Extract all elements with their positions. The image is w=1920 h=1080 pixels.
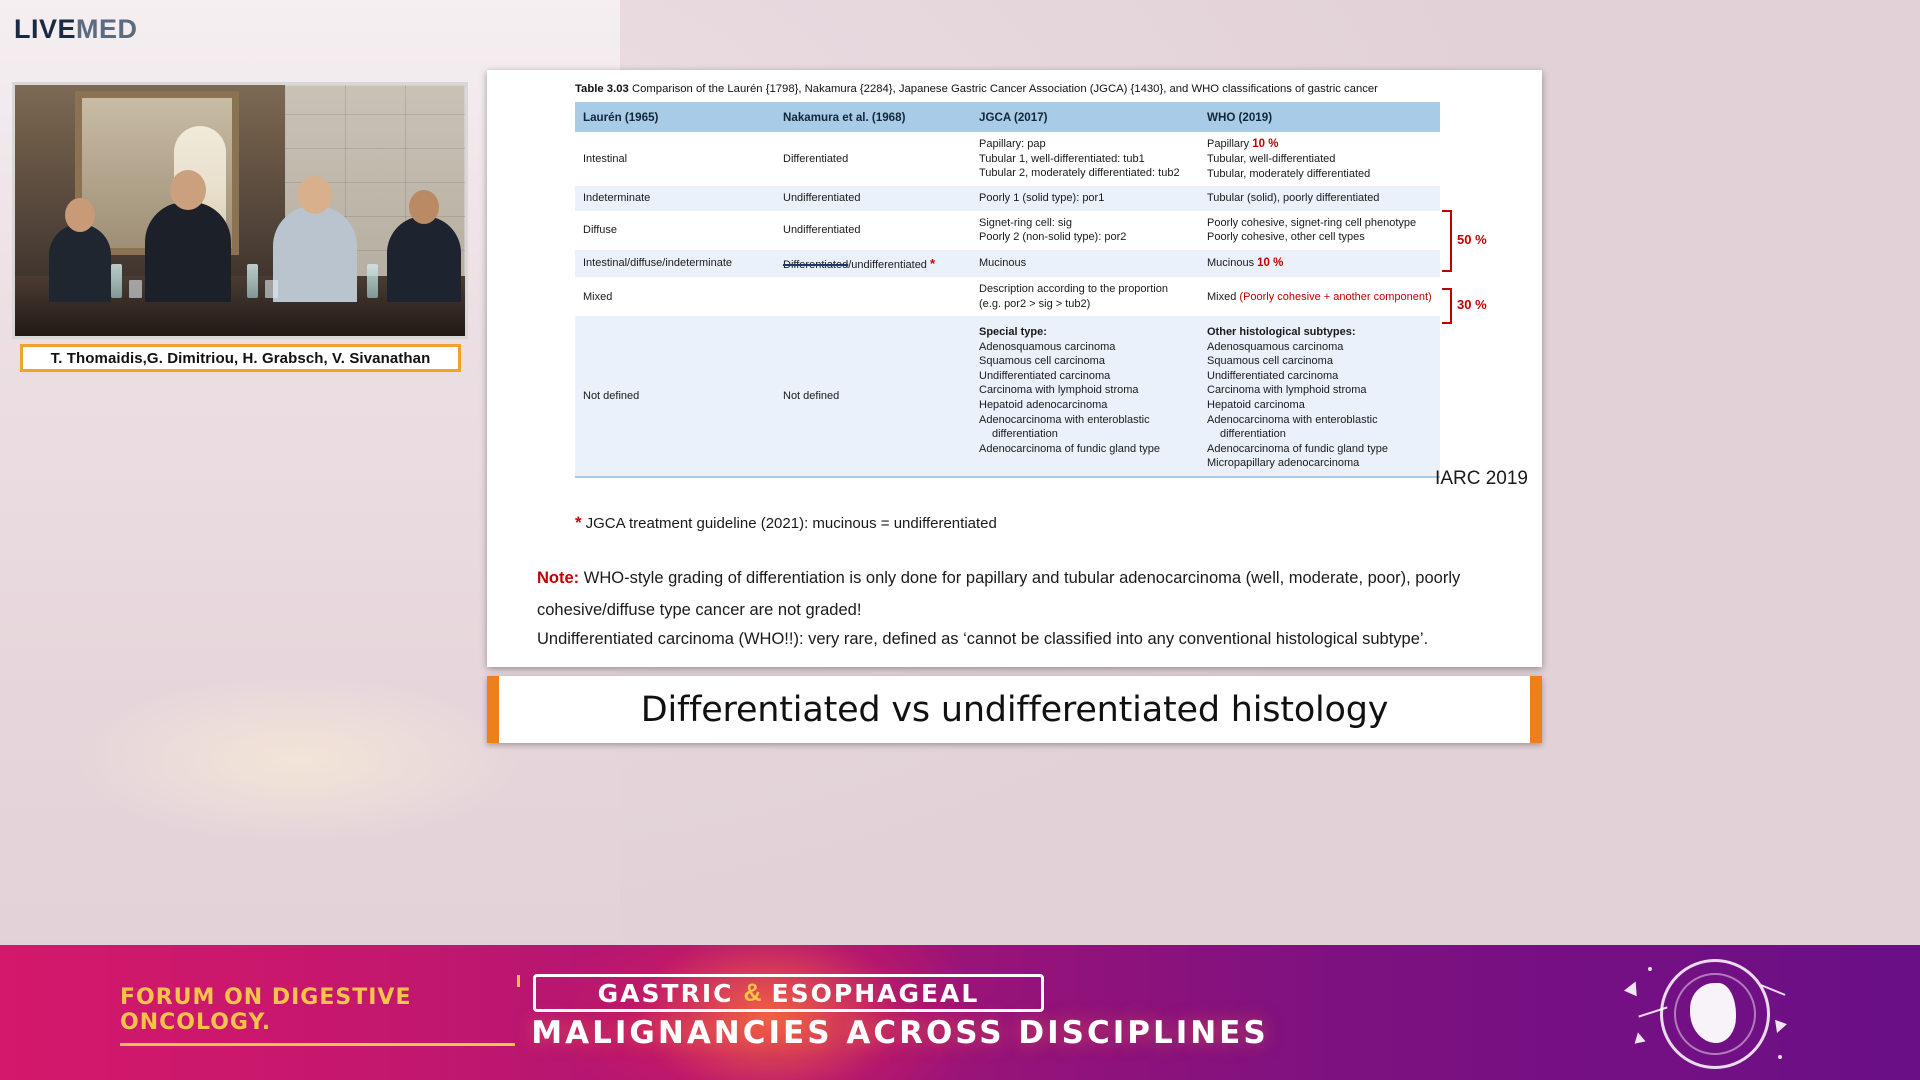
table-caption: Table 3.03 Comparison of the Laurén {179… [575, 82, 1440, 96]
who-mixed-note: (Poorly cohesive + another component) [1239, 291, 1431, 303]
note-body: WHO-style grading of differentiation is … [537, 569, 1460, 619]
cell-lauren: Intestinal [575, 132, 775, 186]
forum-tick [517, 975, 520, 987]
who-line: differentiation [1207, 427, 1432, 442]
table-row: Indeterminate Undifferentiated Poorly 1 … [575, 186, 1440, 211]
cell-jgca: Signet-ring cell: sig Poorly 2 (non-soli… [971, 211, 1199, 250]
gastric-label: GASTRIC [598, 979, 734, 1008]
jgca-line: Adenocarcinoma of fundic gland type [979, 443, 1160, 455]
cell-jgca: Papillary: pap Tubular 1, well-different… [971, 132, 1199, 186]
table-caption-text: Comparison of the Laurén {1798}, Nakamur… [632, 83, 1378, 95]
ampersand-label: & [743, 979, 761, 1008]
asterisk-marker: * [930, 256, 935, 271]
table-row: Intestinal Differentiated Papillary: pap… [575, 132, 1440, 186]
who-percent-papillary: 10 % [1252, 138, 1278, 150]
panelist-4-head [409, 190, 439, 224]
who-line: Mucinous [1207, 257, 1254, 269]
who-line: Adenocarcinoma of fundic gland type [1207, 443, 1388, 455]
nakamura-rest: /undifferentiated [848, 259, 927, 271]
who-line: Tubular, moderately differentiated [1207, 168, 1370, 180]
col-header-who: WHO (2019) [1199, 102, 1440, 132]
col-header-lauren: Laurén (1965) [575, 102, 775, 132]
jgca-line: Description according to the proportion [979, 283, 1168, 295]
water-bottle-2 [247, 264, 258, 298]
jgca-special-title: Special type: [979, 326, 1047, 338]
cell-nakamura: Not defined [775, 316, 971, 475]
esophageal-label: ESOPHAGEAL [772, 979, 980, 1008]
footnote-asterisk: * [575, 513, 582, 532]
panelist-1 [49, 224, 111, 302]
banner-subtitle: MALIGNANCIES ACROSS DISCIPLINES [490, 1015, 1310, 1051]
slide-note-secondary: Undifferentiated carcinoma (WHO!!): very… [537, 630, 1522, 649]
stomach-icon [1690, 983, 1736, 1043]
who-line: Adenosquamous carcinoma [1207, 341, 1343, 353]
who-line: Poorly cohesive, signet-ring cell phenot… [1207, 217, 1416, 229]
who-line: Micropapillary adenocarcinoma [1207, 457, 1359, 469]
table-footnote: *JGCA treatment guideline (2021): mucino… [575, 513, 997, 533]
forum-label: FORUM ON DIGESTIVE ONCOLOGY. [120, 985, 520, 1035]
cell-jgca: Mucinous [971, 250, 1199, 278]
emblem-spark [1624, 979, 1642, 997]
table-row: Diffuse Undifferentiated Signet-ring cel… [575, 211, 1440, 250]
cell-lauren: Not defined [575, 316, 775, 475]
cell-lauren: Indeterminate [575, 186, 775, 211]
cell-lauren: Diffuse [575, 211, 775, 250]
table-header-row: Laurén (1965) Nakamura et al. (1968) JGC… [575, 102, 1440, 132]
jgca-line: Adenosquamous carcinoma [979, 341, 1115, 353]
table-row: Intestinal/diffuse/indeterminate Differe… [575, 250, 1440, 278]
who-line: Carcinoma with lymphoid stroma [1207, 384, 1367, 396]
cell-nakamura [775, 277, 971, 316]
panelist-4 [387, 216, 461, 302]
emblem-dot [1778, 1055, 1782, 1059]
who-line: Adenocarcinoma with enteroblastic [1207, 414, 1378, 426]
emblem-spark [1771, 1020, 1787, 1035]
forum-underline [120, 1043, 515, 1046]
emblem-dot [1648, 967, 1652, 971]
slide-title-bar: Differentiated vs undifferentiated histo… [487, 676, 1542, 743]
jgca-line: Squamous cell carcinoma [979, 355, 1105, 367]
who-other-title: Other histological subtypes: [1207, 326, 1356, 338]
table-row: Mixed Description according to the propo… [575, 277, 1440, 316]
speaker-video-panel[interactable] [12, 82, 468, 339]
cell-who: Papillary 10 % Tubular, well-differentia… [1199, 132, 1440, 186]
struck-differentiated: Differentiated [783, 259, 848, 271]
who-line: Undifferentiated carcinoma [1207, 370, 1338, 382]
brace-label: 30 % [1457, 297, 1487, 312]
livemed-logo: LIVEMED [14, 14, 138, 45]
emblem-spark [1632, 1031, 1645, 1044]
jgca-line: Tubular 2, moderately differentiated: tu… [979, 167, 1180, 179]
who-line: Poorly cohesive, other cell types [1207, 231, 1365, 243]
forum-label-block: FORUM ON DIGESTIVE ONCOLOGY. [120, 985, 520, 1046]
stomach-emblem-icon [1660, 959, 1770, 1069]
cell-who: Mixed (Poorly cohesive + another compone… [1199, 277, 1440, 316]
slide-note-primary: Note: WHO-style grading of differentiati… [537, 562, 1512, 626]
who-line: Squamous cell carcinoma [1207, 355, 1333, 367]
footnote-text: JGCA treatment guideline (2021): mucinou… [586, 515, 997, 532]
brace-label: 50 % [1457, 232, 1487, 247]
who-line: Mixed [1207, 291, 1236, 303]
logo-med: MED [76, 14, 138, 44]
jgca-line: (e.g. por2 > sig > tub2) [979, 298, 1090, 310]
cell-lauren: Mixed [575, 277, 775, 316]
cell-nakamura: Differentiated [775, 132, 971, 186]
brace-bar [1442, 210, 1452, 272]
who-line: Hepatoid carcinoma [1207, 399, 1305, 411]
jgca-line: Signet-ring cell: sig [979, 217, 1072, 229]
cell-jgca: Special type: Adenosquamous carcinoma Sq… [971, 316, 1199, 475]
jgca-line: Tubular 1, well-differentiated: tub1 [979, 153, 1145, 165]
logo-live: LIVE [14, 14, 76, 44]
cell-who: Tubular (solid), poorly differentiated [1199, 186, 1440, 211]
who-line: Papillary [1207, 138, 1249, 150]
panelist-3-head [298, 176, 332, 214]
cell-nakamura: Undifferentiated [775, 186, 971, 211]
who-percent-mucinous: 10 % [1257, 257, 1283, 269]
water-glass-1 [129, 280, 142, 298]
presentation-slide[interactable]: Table 3.03 Comparison of the Laurén {179… [487, 70, 1542, 667]
event-banner: FORUM ON DIGESTIVE ONCOLOGY. GASTRIC & E… [0, 945, 1920, 1080]
water-glass-2 [265, 280, 278, 298]
cell-lauren: Intestinal/diffuse/indeterminate [575, 250, 775, 278]
water-bottle-3 [367, 264, 378, 298]
cell-who: Other histological subtypes: Adenosquamo… [1199, 316, 1440, 475]
panelist-2 [145, 202, 231, 302]
jgca-line: Adenocarcinoma with enteroblastic [979, 414, 1150, 426]
gastric-esophageal-box: GASTRIC & ESOPHAGEAL [533, 974, 1044, 1012]
jgca-line: Carcinoma with lymphoid stroma [979, 384, 1139, 396]
cell-jgca: Description according to the proportion … [971, 277, 1199, 316]
panelist-2-head [170, 170, 206, 210]
brace-bar [1442, 288, 1452, 324]
jgca-line: differentiation [979, 427, 1191, 442]
comparison-table-block: Table 3.03 Comparison of the Laurén {179… [575, 82, 1440, 478]
water-bottle-1 [111, 264, 122, 298]
slide-title: Differentiated vs undifferentiated histo… [641, 690, 1389, 730]
panelist-1-head [65, 198, 95, 232]
table-bottom-rule [575, 476, 1440, 478]
panelist-3 [273, 206, 357, 302]
cell-jgca: Poorly 1 (solid type): por1 [971, 186, 1199, 211]
who-line: Tubular, well-differentiated [1207, 153, 1335, 165]
table-caption-label: Table 3.03 [575, 83, 629, 95]
slide-background: LIVEMED T. Thomaidis,G. Dimitriou, H. Gr… [0, 0, 1920, 1080]
classification-comparison-table: Laurén (1965) Nakamura et al. (1968) JGC… [575, 102, 1440, 475]
cell-who: Poorly cohesive, signet-ring cell phenot… [1199, 211, 1440, 250]
col-header-nakamura: Nakamura et al. (1968) [775, 102, 971, 132]
jgca-line: Poorly 2 (non-solid type): por2 [979, 231, 1126, 243]
cell-nakamura: Undifferentiated [775, 211, 971, 250]
cell-nakamura: Differentiated/undifferentiated * [775, 250, 971, 278]
jgca-line: Undifferentiated carcinoma [979, 370, 1110, 382]
cell-who: Mucinous 10 % [1199, 250, 1440, 278]
table-row: Not defined Not defined Special type: Ad… [575, 316, 1440, 475]
col-header-jgca: JGCA (2017) [971, 102, 1199, 132]
jgca-line: Papillary: pap [979, 138, 1046, 150]
note-label: Note: [537, 569, 579, 587]
source-attribution: IARC 2019 [1435, 468, 1528, 490]
speaker-names-caption: T. Thomaidis,G. Dimitriou, H. Grabsch, V… [20, 344, 461, 372]
jgca-line: Hepatoid adenocarcinoma [979, 399, 1107, 411]
